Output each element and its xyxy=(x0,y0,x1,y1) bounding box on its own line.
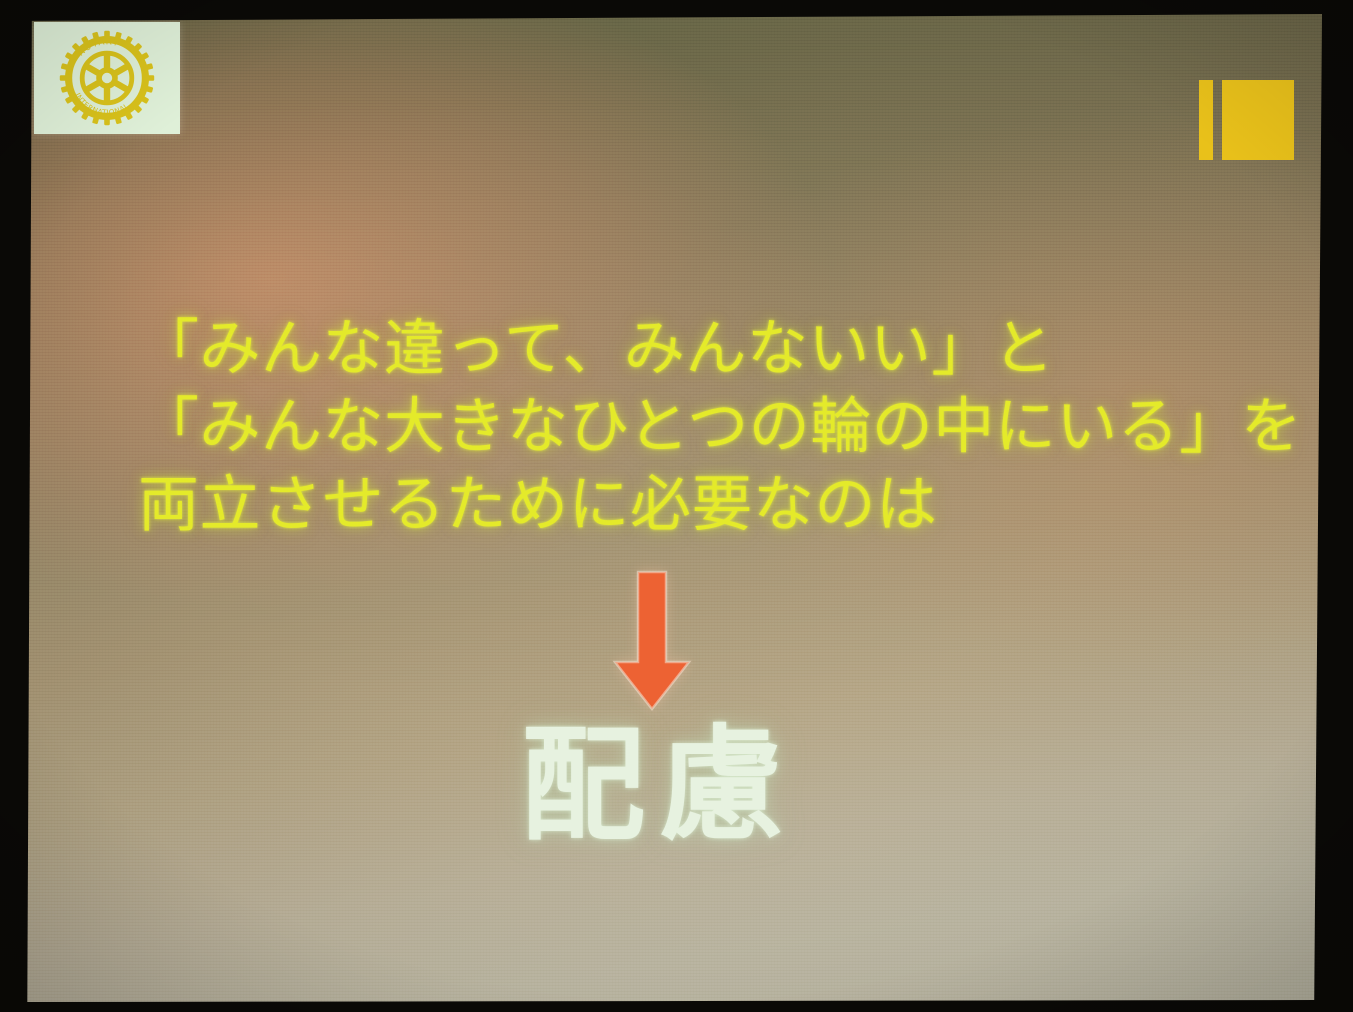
yellow-square xyxy=(1222,80,1294,160)
slide-background: ROTARY INTERNATIONAL 「みんな違って、みん xyxy=(26,14,1322,1002)
down-arrow-icon xyxy=(611,570,693,712)
body-line-1: 「みんな違って、みんないい」と xyxy=(138,310,1258,388)
down-arrow-container xyxy=(26,570,1322,712)
conclusion-container: 配慮 xyxy=(26,716,1322,856)
slide-surface: ROTARY INTERNATIONAL 「みんな違って、みん xyxy=(26,14,1322,1002)
yellow-bar xyxy=(1199,80,1213,160)
yellow-bar-and-square-decoration xyxy=(1199,80,1294,160)
conclusion-word: 配慮 xyxy=(521,714,797,858)
slide-body-text: 「みんな違って、みんないい」と 「みんな大きなひとつの輪の中にいる」を 両立させ… xyxy=(138,310,1258,544)
body-line-2: 「みんな大きなひとつの輪の中にいる」を xyxy=(138,388,1258,466)
projected-slide-photo: ROTARY INTERNATIONAL 「みんな違って、みん xyxy=(0,0,1353,1012)
body-line-3: 両立させるために必要なのは xyxy=(138,466,1258,544)
rotary-wheel-icon: ROTARY INTERNATIONAL xyxy=(46,30,168,126)
rotary-logo-box: ROTARY INTERNATIONAL xyxy=(34,22,180,134)
